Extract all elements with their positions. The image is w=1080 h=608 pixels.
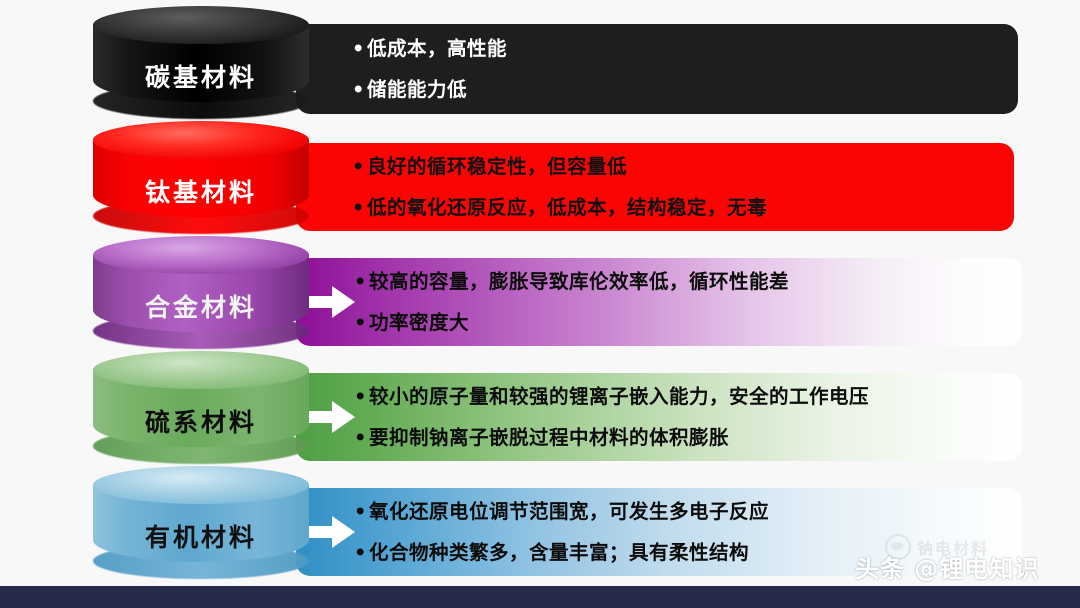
bullet-line: •较小的原子量和较强的锂离子嵌入能力，安全的工作电压 (354, 387, 1008, 407)
banner-row-4: •较小的原子量和较强的锂离子嵌入能力，安全的工作电压 •要抑制钠离子嵌脱过程中材… (296, 373, 1022, 461)
bullet-text: 功率密度大 (369, 311, 469, 334)
bullet-line: •良好的循环稳定性，但容量低 (352, 157, 1000, 177)
bullet-glyph: • (354, 387, 367, 407)
bullet-glyph: • (354, 428, 367, 448)
cylinder-top-ellipse (93, 236, 309, 274)
cylinder-top-ellipse (93, 6, 309, 44)
cylinder-label: 硫系材料 (93, 403, 309, 439)
bullet-line: •储能能力低 (352, 80, 1004, 100)
bullet-glyph: • (352, 39, 365, 59)
bullet-glyph: • (352, 198, 365, 218)
bullet-line: •功率密度大 (354, 313, 1008, 333)
bullet-text: 较高的容量，膨胀导致库伦效率低，循环性能差 (369, 270, 789, 293)
bullet-glyph: • (354, 313, 367, 333)
arrow-right-icon (302, 515, 356, 549)
cylinder-top-ellipse (93, 351, 309, 389)
bullet-line: •低的氧化还原反应，低成本，结构稳定，无毒 (352, 198, 1000, 218)
cylinder-label: 合金材料 (93, 288, 309, 324)
bullet-line: •要抑制钠离子嵌脱过程中材料的体积膨胀 (354, 428, 1008, 448)
banner-row-3: •较高的容量，膨胀导致库伦效率低，循环性能差 •功率密度大 (296, 258, 1022, 346)
bullet-glyph: • (352, 157, 365, 177)
bullet-text: 较小的原子量和较强的锂离子嵌入能力，安全的工作电压 (369, 385, 869, 408)
bullet-line: •低成本，高性能 (352, 39, 1004, 59)
cylinder-top-ellipse (93, 121, 309, 159)
slide-canvas: •低成本，高性能 •储能能力低 •良好的循环稳定性，但容量低 •低的氧化还原反应… (0, 0, 1080, 608)
banner-row-5-text: •氧化还原电位调节范围宽，可发生多电子反应 •化合物种类繁多，含量丰富；具有柔性… (354, 502, 1008, 562)
arrow-right-icon (302, 400, 356, 434)
bullet-line: •化合物种类繁多，含量丰富；具有柔性结构 (354, 543, 1008, 563)
bullet-glyph: • (354, 543, 367, 563)
bullet-text: 化合物种类繁多，含量丰富；具有柔性结构 (369, 541, 749, 564)
bullet-text: 氧化还原电位调节范围宽，可发生多电子反应 (369, 500, 769, 523)
cylinder-top-ellipse (93, 466, 309, 504)
bullet-glyph: • (352, 80, 365, 100)
bullet-text: 低成本，高性能 (367, 37, 507, 60)
bullet-text: 要抑制钠离子嵌脱过程中材料的体积膨胀 (369, 426, 729, 449)
cylinder-label: 钛基材料 (93, 173, 309, 209)
bullet-glyph: • (354, 272, 367, 292)
bullet-text: 低的氧化还原反应，低成本，结构稳定，无毒 (367, 196, 767, 219)
banner-row-1-text: •低成本，高性能 •储能能力低 (352, 39, 1004, 99)
bullet-glyph: • (354, 502, 367, 522)
cylinder-label: 碳基材料 (93, 58, 309, 94)
bullet-line: •氧化还原电位调节范围宽，可发生多电子反应 (354, 502, 1008, 522)
banner-row-1: •低成本，高性能 •储能能力低 (296, 24, 1018, 114)
cylinder-label: 有机材料 (93, 518, 309, 554)
banner-row-4-text: •较小的原子量和较强的锂离子嵌入能力，安全的工作电压 •要抑制钠离子嵌脱过程中材… (354, 387, 1008, 447)
bullet-text: 储能能力低 (367, 78, 467, 101)
bullet-line: •较高的容量，膨胀导致库伦效率低，循环性能差 (354, 272, 1008, 292)
arrow-right-icon (302, 285, 356, 319)
banner-row-3-text: •较高的容量，膨胀导致库伦效率低，循环性能差 •功率密度大 (354, 272, 1008, 332)
bullet-text: 良好的循环稳定性，但容量低 (367, 155, 627, 178)
bottom-bar (0, 586, 1080, 608)
banner-row-2-text: •良好的循环稳定性，但容量低 •低的氧化还原反应，低成本，结构稳定，无毒 (352, 157, 1000, 217)
banner-row-2: •良好的循环稳定性，但容量低 •低的氧化还原反应，低成本，结构稳定，无毒 (296, 143, 1014, 231)
banner-row-5: •氧化还原电位调节范围宽，可发生多电子反应 •化合物种类繁多，含量丰富；具有柔性… (296, 488, 1022, 576)
